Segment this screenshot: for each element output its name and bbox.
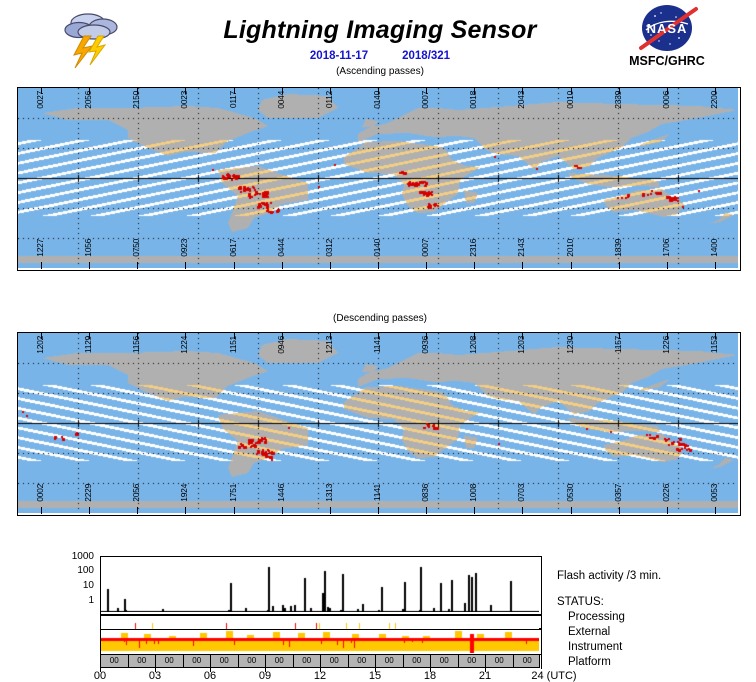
asc-bot-label-11: 2010 <box>566 239 575 257</box>
tick-mark <box>234 332 235 339</box>
desc-bot-label-5: 1446 <box>277 484 286 502</box>
page-title: Lightning Imaging Sensor <box>180 16 580 45</box>
flash-activity-canvas <box>101 557 539 612</box>
tick-mark <box>185 507 186 514</box>
tick-mark <box>715 262 716 269</box>
nasa-center-label: MSFC/GHRC <box>614 54 720 68</box>
utc-cell-6[interactable]: 00 <box>266 655 294 667</box>
desc-bot-label-4: 1751 <box>229 484 238 502</box>
utc-cell-5[interactable]: 00 <box>239 655 267 667</box>
tick-mark <box>137 332 138 339</box>
asc-bot-label-7: 0140 <box>373 239 382 257</box>
activity-status-panel: 1000 100 10 1 00000000000000000000000000… <box>60 548 756 680</box>
tick-mark <box>89 507 90 514</box>
tick-mark <box>667 87 668 94</box>
tick-mark <box>282 507 283 514</box>
legend-status-instrument: Instrument <box>568 641 622 653</box>
asc-bot-label-0: 1227 <box>36 239 45 257</box>
desc-bot-label-6: 1313 <box>325 484 334 502</box>
tick-mark <box>667 262 668 269</box>
tick-mark <box>41 507 42 514</box>
x-tick-mark-2 <box>210 668 211 672</box>
tick-mark <box>41 87 42 94</box>
utc-cell-0[interactable]: 00 <box>101 655 129 667</box>
tick-mark <box>426 507 427 514</box>
legend-status-processing: Processing <box>568 611 625 623</box>
tick-mark <box>330 262 331 269</box>
tick-mark <box>619 87 620 94</box>
desc-bot-label-12: 0357 <box>614 484 623 502</box>
legend-status-external: External <box>568 626 610 638</box>
desc-bot-label-0: 0002 <box>36 484 45 502</box>
asc-bot-label-8: 0007 <box>421 239 430 257</box>
tick-mark <box>619 507 620 514</box>
tick-mark <box>282 262 283 269</box>
tick-mark <box>234 262 235 269</box>
utc-cell-4[interactable]: 00 <box>211 655 239 667</box>
tick-mark <box>571 332 572 339</box>
utc-cell-15[interactable]: 00 <box>514 655 542 667</box>
x-tick-mark-4 <box>320 668 321 672</box>
tick-mark <box>426 262 427 269</box>
observation-date-row: 2018-11-172018/321 <box>180 50 580 62</box>
asc-bot-label-1: 1056 <box>84 239 93 257</box>
tick-mark <box>378 262 379 269</box>
tick-mark <box>426 332 427 339</box>
tick-mark <box>41 332 42 339</box>
tick-mark <box>474 262 475 269</box>
asc-bot-label-5: 0444 <box>277 239 286 257</box>
date-day-of-year: 2018/321 <box>402 50 450 62</box>
utc-cell-2[interactable]: 00 <box>156 655 184 667</box>
tick-mark <box>378 87 379 94</box>
desc-bot-label-8: 0836 <box>421 484 430 502</box>
tick-mark <box>522 332 523 339</box>
utc-time-bar[interactable]: 00000000000000000000000000000000 <box>100 654 540 668</box>
asc-bot-label-13: 1706 <box>662 239 671 257</box>
tick-mark <box>282 87 283 94</box>
svg-text:NASA: NASA <box>647 21 688 36</box>
y-tick-1000: 1000 <box>60 551 94 562</box>
status-processing-canvas <box>101 619 539 629</box>
x-tick-mark-7 <box>485 668 486 672</box>
asc-bot-label-10: 2143 <box>517 239 526 257</box>
legend-flash-activity: Flash activity /3 min. <box>557 570 661 582</box>
x-tick-mark-0 <box>100 668 101 672</box>
tick-mark <box>185 332 186 339</box>
asc-bot-label-2: 0750 <box>132 239 141 257</box>
y-tick-10: 10 <box>60 580 94 591</box>
desc-bot-label-7: 1141 <box>373 484 382 501</box>
tick-mark <box>474 332 475 339</box>
tick-mark <box>330 507 331 514</box>
legend-status-heading: STATUS: <box>557 596 604 608</box>
x-tick-8: 24 (UTC) <box>524 670 584 682</box>
tick-mark <box>426 87 427 94</box>
tick-mark <box>571 262 572 269</box>
desc-bot-label-11: 0530 <box>566 484 575 502</box>
utc-cell-12[interactable]: 00 <box>431 655 459 667</box>
subtitle-ascending: (Ascending passes) <box>180 66 580 77</box>
tick-mark <box>330 332 331 339</box>
desc-bot-label-14: 0053 <box>710 484 719 502</box>
tick-mark <box>715 332 716 339</box>
desc-bot-label-3: 1924 <box>180 484 189 502</box>
tick-mark <box>185 262 186 269</box>
utc-cell-14[interactable]: 00 <box>486 655 514 667</box>
asc-bot-label-6: 0312 <box>325 239 334 257</box>
tick-mark <box>234 87 235 94</box>
tick-mark <box>89 332 90 339</box>
desc-bot-label-13: 0226 <box>662 484 671 502</box>
x-tick-mark-6 <box>430 668 431 672</box>
status-processing-strip[interactable] <box>100 615 542 629</box>
desc-bot-label-2: 2056 <box>132 484 141 502</box>
flash-activity-chart[interactable] <box>100 556 542 615</box>
utc-cell-1[interactable]: 00 <box>129 655 157 667</box>
tick-mark <box>522 507 523 514</box>
x-tick-mark-1 <box>155 668 156 672</box>
tick-mark <box>378 507 379 514</box>
tick-mark <box>234 507 235 514</box>
tick-mark <box>89 87 90 94</box>
tick-mark <box>378 332 379 339</box>
tick-mark <box>522 262 523 269</box>
tick-mark <box>667 507 668 514</box>
tick-mark <box>282 332 283 339</box>
desc-bot-label-9: 1008 <box>469 484 478 502</box>
utc-cell-13[interactable]: 00 <box>459 655 487 667</box>
desc-bot-label-1: 2229 <box>84 484 93 502</box>
tick-mark <box>619 332 620 339</box>
tick-mark <box>137 507 138 514</box>
asc-bot-label-3: 0923 <box>180 239 189 257</box>
tick-mark <box>137 87 138 94</box>
desc-bot-label-10: 0703 <box>517 484 526 502</box>
asc-bot-label-4: 0617 <box>229 239 238 257</box>
y-tick-100: 100 <box>60 565 94 576</box>
tick-mark <box>715 87 716 94</box>
x-tick-mark-3 <box>265 668 266 672</box>
nasa-logo-icon: NASA <box>630 4 704 54</box>
tick-mark <box>137 262 138 269</box>
thunderstorm-cloud-icon <box>58 8 128 70</box>
status-external-instrument-strip[interactable] <box>100 629 542 656</box>
utc-cell-8[interactable]: 00 <box>321 655 349 667</box>
utc-cell-9[interactable]: 00 <box>349 655 377 667</box>
tick-mark <box>89 262 90 269</box>
tick-mark <box>330 87 331 94</box>
date-iso: 2018-11-17 <box>310 50 368 62</box>
utc-cell-3[interactable]: 00 <box>184 655 212 667</box>
x-tick-mark-5 <box>375 668 376 672</box>
tick-mark <box>571 507 572 514</box>
utc-cell-10[interactable]: 00 <box>376 655 404 667</box>
tick-mark <box>474 87 475 94</box>
tick-mark <box>619 262 620 269</box>
status-external-canvas <box>101 630 539 653</box>
tick-mark <box>571 87 572 94</box>
asc-bot-label-9: 2316 <box>469 239 478 257</box>
asc-bot-label-14: 1400 <box>710 239 719 257</box>
tick-mark <box>522 87 523 94</box>
subtitle-descending: (Descending passes) <box>180 313 580 324</box>
tick-mark <box>715 507 716 514</box>
tick-mark <box>474 507 475 514</box>
utc-cell-11[interactable]: 00 <box>404 655 432 667</box>
tick-mark <box>667 332 668 339</box>
legend-status-platform: Platform <box>568 656 611 668</box>
utc-cell-7[interactable]: 00 <box>294 655 322 667</box>
asc-bot-label-12: 1839 <box>614 239 623 257</box>
page-header: Lightning Imaging Sensor 2018-11-172018/… <box>0 0 756 78</box>
tick-mark <box>41 262 42 269</box>
tick-mark <box>185 87 186 94</box>
y-tick-1: 1 <box>60 595 94 606</box>
